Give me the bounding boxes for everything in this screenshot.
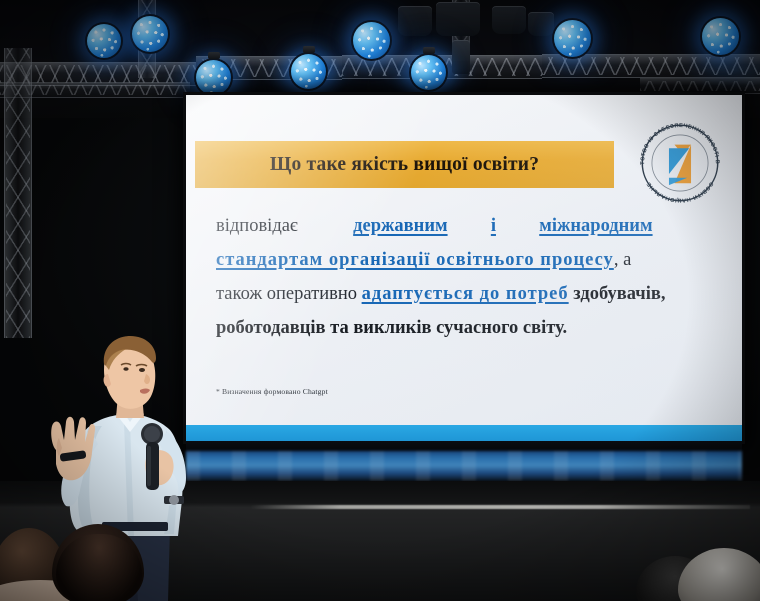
stage-reflection — [186, 451, 742, 481]
moving-head-fixture — [398, 6, 432, 36]
screen-bottom-edge — [186, 441, 742, 451]
slide-line-3: також оперативно адаптується до потреб з… — [216, 285, 716, 304]
par-led-dots — [291, 54, 326, 89]
par-led-dots — [554, 20, 591, 57]
moving-head-fixture — [436, 2, 480, 36]
naqa-logo: АГЕНТСТВО ІЗ ЗАБЕЗПЕЧЕННЯ ЯКОСТІ ВИЩОЇ О… — [634, 117, 726, 209]
par-led-dots — [411, 55, 446, 90]
par-yoke — [423, 47, 435, 54]
presentation-slide: Що таке якість вищої освіти? АГЕНТСТВО І… — [186, 95, 742, 425]
par-light — [85, 22, 123, 60]
slide-line-2-tail: , а — [614, 250, 631, 270]
par-led-dots — [132, 16, 168, 52]
svg-text:ОСВІТИ НАЦІОНАЛЬНЕ: ОСВІТИ НАЦІОНАЛЬНЕ — [646, 180, 714, 202]
par-led-dots — [353, 22, 390, 59]
slide-line-4: роботодавців та викликів сучасного світу… — [216, 319, 716, 338]
slide-line-2: стандартам організації освітнього процес… — [216, 251, 716, 270]
audience-hair — [56, 534, 142, 601]
slide-line-1-blue-a: державним — [353, 216, 447, 236]
moving-head-fixture — [528, 12, 554, 36]
presentation-photo: Що таке якість вищої освіти? АГЕНТСТВО І… — [0, 0, 760, 601]
par-yoke — [303, 46, 315, 53]
par-light — [351, 20, 392, 61]
moving-head-fixture — [492, 6, 526, 34]
par-led-dots — [702, 18, 739, 55]
par-yoke — [208, 52, 220, 59]
moving-head-fixture — [452, 40, 470, 74]
slide-line-3-plain: також оперативно — [216, 284, 362, 304]
slide-line-2-blue: стандартам організації освітнього процес… — [216, 250, 614, 270]
slide-title: Що таке якість вищої освіти? — [270, 154, 539, 176]
par-led-dots — [196, 60, 231, 95]
slide-title-banner: Що таке якість вищої освіти? — [195, 141, 614, 188]
par-light — [552, 18, 593, 59]
slide-line-1: відповідає державним і міжнародним — [216, 217, 716, 236]
par-light — [700, 16, 741, 57]
par-light — [130, 14, 170, 54]
slide-line-3-bold: здобувачів, — [569, 284, 666, 304]
par-light — [289, 52, 328, 91]
par-light — [409, 53, 448, 92]
slide-line-1-blue-b: і — [491, 216, 496, 236]
slide-line-1-blue-c: міжнародним — [539, 216, 652, 236]
par-led-dots — [87, 24, 121, 58]
slide-line-3-blue: адаптується до потреб — [362, 284, 569, 304]
slide-line-1-plain: відповідає — [216, 216, 298, 236]
stage-edge-highlight — [250, 505, 750, 509]
slide-body: відповідає державним і міжнародним станд… — [216, 217, 716, 353]
naqa-logo-svg: АГЕНТСТВО ІЗ ЗАБЕЗПЕЧЕННЯ ЯКОСТІ ВИЩОЇ О… — [634, 117, 726, 209]
slide-bottom-accent-band — [186, 425, 742, 441]
